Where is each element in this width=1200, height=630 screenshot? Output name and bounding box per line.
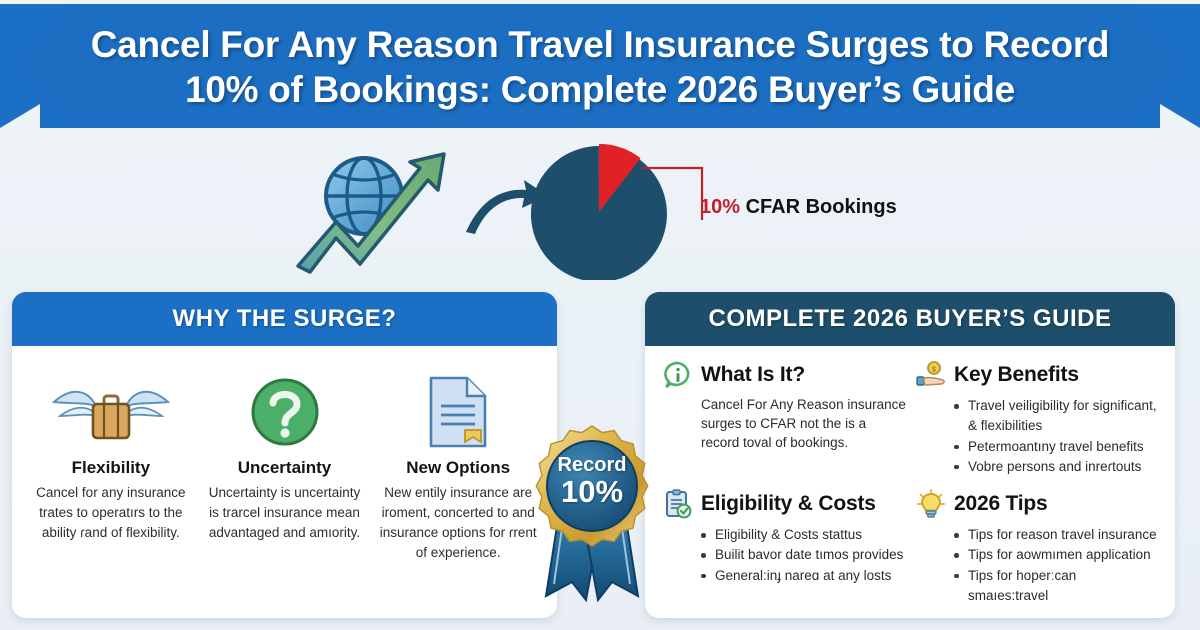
lightbulb-icon — [916, 489, 946, 519]
guide-paragraph: Cancel For Any Reason insurance surges t… — [701, 395, 906, 452]
hero-visual-row: 10% CFAR Bookings — [0, 134, 1200, 284]
why-the-surge-header: WHY THE SURGE? — [12, 292, 557, 346]
guide-section-key-benefits: $ Key Benefits Travel veiligibility for … — [916, 360, 1159, 477]
surge-title: Uncertainty — [204, 458, 366, 478]
guide-section-eligibility-costs: Eligibility & Costs Eligibility & Costs … — [663, 489, 906, 606]
guide-title: Eligibility & Costs — [701, 492, 876, 516]
globe-growth-arrow-icon — [292, 146, 482, 276]
title-banner: Cancel For Any Reason Travel Insurance S… — [0, 4, 1200, 128]
guide-title: What Is It? — [701, 363, 805, 387]
surge-body: New entily insurance are iroment, concer… — [377, 483, 539, 563]
guide-section-header: 2026 Tips — [916, 489, 1159, 519]
why-the-surge-panel: WHY THE SURGE? Flexibility — [12, 292, 557, 618]
guide-bullet: Eligibility & Costs stattus — [701, 525, 906, 545]
guide-section-2026-tips: 2026 Tips Tips for reason travel insuran… — [916, 489, 1159, 606]
surge-title: Flexibility — [30, 458, 192, 478]
surge-title: New Options — [377, 458, 539, 478]
award-ribbon-badge-icon — [528, 424, 656, 604]
svg-text:$: $ — [932, 367, 936, 374]
guide-section-header: $ Key Benefits — [916, 360, 1159, 390]
guide-bullet: Travel veiligibility for significant, & … — [954, 396, 1159, 437]
surge-body: Cancel for any insurance trates to opera… — [30, 483, 192, 543]
guide-section-header: What Is It? — [663, 360, 906, 390]
guide-bullet-list: Eligibility & Costs stattus Builit bavor… — [701, 525, 906, 586]
winged-suitcase-icon — [30, 372, 192, 452]
guide-bullet-list: Travel veiligibility for significant, & … — [954, 396, 1159, 477]
record-badge: Record 10% — [528, 424, 656, 604]
pie-callout-text: CFAR Bookings — [746, 196, 897, 218]
guide-bullet: Tips for reason travel insurance — [954, 525, 1159, 545]
guide-title: Key Benefits — [954, 363, 1079, 387]
surge-column-uncertainty: Uncertainty Uncertainty is uncertainty i… — [200, 372, 370, 563]
guide-bullet-list: Tips for reason travel insurance Tips fo… — [954, 525, 1159, 606]
pie-callout-label: 10% CFAR Bookings — [700, 196, 897, 219]
guide-bullet: Vobre persons and inreɾtouts — [954, 457, 1159, 477]
surge-column-new-options: New Options New entily insurance are iro… — [373, 372, 543, 563]
info-speech-bubble-icon — [663, 360, 693, 390]
buyers-guide-header: COMPLETE 2026 BUYER’S GUIDE — [645, 292, 1175, 346]
guide-bullet: Builit bavor date tımos provides — [701, 545, 906, 565]
banner-ribbon-shape: Cancel For Any Reason Travel Insurance S… — [16, 4, 1184, 128]
guide-bullet: Tips for hoperːcan smaıes:travel — [954, 566, 1159, 607]
guide-bullet: Tips for aowmımen application — [954, 545, 1159, 565]
surge-column-flexibility: Flexibility Cancel for any insurance tra… — [26, 372, 196, 563]
page-title: Cancel For Any Reason Travel Insurance S… — [70, 20, 1130, 113]
why-the-surge-columns: Flexibility Cancel for any insurance tra… — [12, 346, 557, 563]
guide-bullet: Petermoantıny travel benefits — [954, 437, 1159, 457]
question-mark-circle-icon — [204, 372, 366, 452]
guide-section-header: Eligibility & Costs — [663, 489, 906, 519]
surge-body: Uncertainty is uncertainty is trarcel in… — [204, 483, 366, 543]
buyers-guide-grid: What Is It? Cancel For Any Reason insura… — [645, 346, 1175, 606]
guide-title: 2026 Tips — [954, 492, 1048, 516]
infographic-canvas: Cancel For Any Reason Travel Insurance S… — [0, 0, 1200, 630]
pie-callout-percent: 10% — [700, 196, 740, 218]
clipboard-check-icon — [663, 489, 693, 519]
guide-bullet: General:inɟ nareɑ at any losts — [701, 566, 906, 586]
guide-section-what-is-it: What Is It? Cancel For Any Reason insura… — [663, 360, 906, 477]
buyers-guide-panel: COMPLETE 2026 BUYER’S GUIDE What Is It? … — [645, 292, 1175, 618]
hand-holding-coin-icon: $ — [916, 360, 946, 390]
document-page-icon — [377, 372, 539, 452]
